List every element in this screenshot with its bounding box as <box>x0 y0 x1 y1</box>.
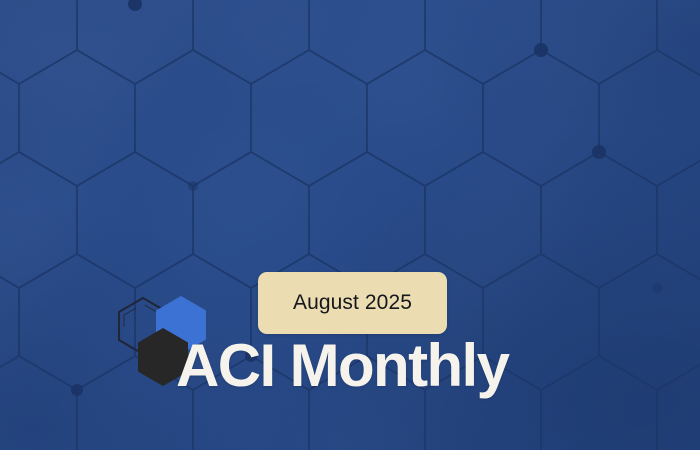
issue-date-badge[interactable]: August 2025 <box>258 272 447 334</box>
newsletter-cover-banner: August 2025 ACI Monthly <box>0 0 700 450</box>
page-title: ACI Monthly <box>176 336 508 396</box>
cover-content: August 2025 ACI Monthly <box>0 0 700 450</box>
issue-date-label: August 2025 <box>293 291 412 315</box>
